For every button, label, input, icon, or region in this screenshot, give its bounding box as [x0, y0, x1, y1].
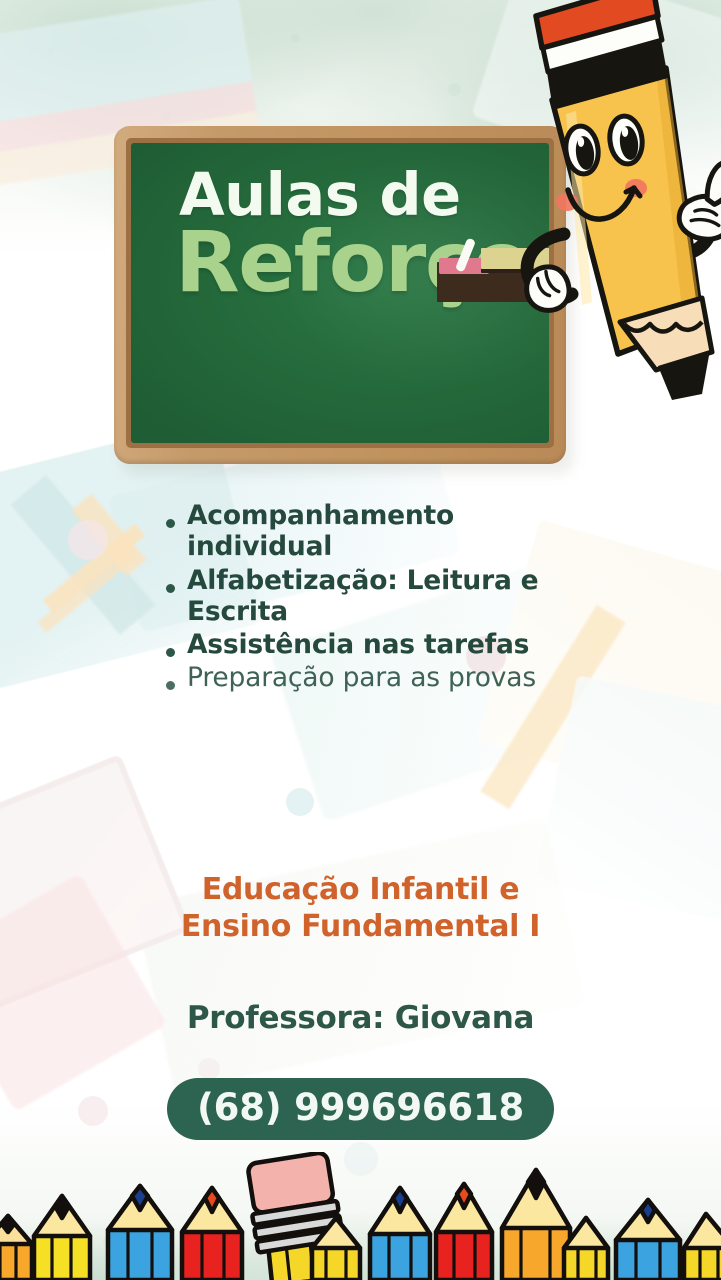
teacher-name: Professora: Giovana [0, 1000, 721, 1036]
list-item-label: Alfabetização: Leitura e Escrita [187, 565, 586, 628]
list-item-label: Preparação para as provas [187, 662, 536, 693]
list-item-label: Acompanhamento individual [187, 500, 586, 563]
education-level-line-1: Educação Infantil e [0, 872, 721, 909]
colored-pencils-border-icon [0, 1152, 721, 1280]
list-item: Acompanhamento individual [166, 500, 586, 563]
list-item: Alfabetização: Leitura e Escrita [166, 565, 586, 628]
phone-container: (68) 999696618 [0, 1078, 721, 1140]
chalkboard: Aulas de Reforço [114, 126, 566, 464]
education-levels: Educação Infantil e Ensino Fundamental I [0, 872, 721, 945]
list-item-label: Assistência nas tarefas [187, 629, 529, 660]
education-level-line-2: Ensino Fundamental I [0, 909, 721, 946]
list-item: Preparação para as provas [166, 662, 586, 693]
poster-root: Aulas de Reforço [0, 0, 721, 1280]
bullet-dot-icon [166, 584, 175, 593]
features-list: Acompanhamento individual Alfabetização:… [166, 500, 586, 696]
phone-number-badge[interactable]: (68) 999696618 [167, 1078, 554, 1140]
bullet-dot-icon [166, 681, 175, 690]
bullet-dot-icon [166, 648, 175, 657]
chalkboard-surface: Aulas de Reforço [131, 143, 549, 443]
bullet-dot-icon [166, 519, 175, 528]
list-item: Assistência nas tarefas [166, 629, 586, 660]
pencil-mascot-icon [506, 22, 721, 402]
